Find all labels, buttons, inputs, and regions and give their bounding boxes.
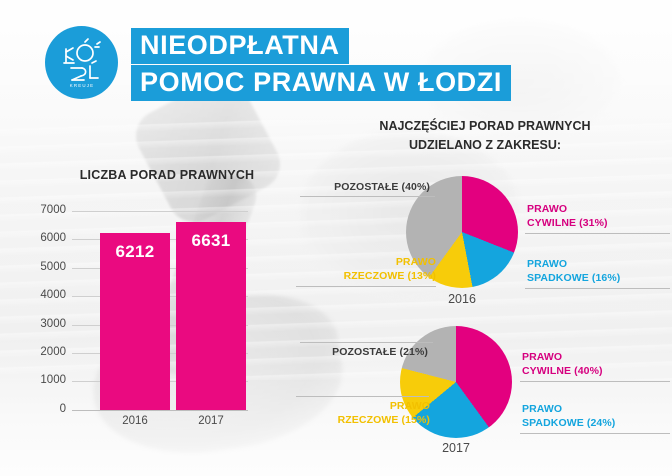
label-text: POZOSTAŁE (40%)	[300, 180, 430, 194]
label-line-1: PRAWO	[522, 402, 615, 416]
label-line-2: RZECZOWE (15%)	[294, 413, 430, 427]
label-line-1: PRAWO	[294, 399, 430, 413]
leader-line-cywilne-2016	[525, 233, 670, 234]
label-line-1: PRAWO	[527, 257, 620, 271]
label-line-1: PRAWO	[296, 255, 436, 269]
ytick-label: 4000	[20, 289, 66, 301]
title-line-1: NIEODPŁATNA	[131, 28, 349, 64]
label-line-2: SPADKOWE (16%)	[527, 271, 620, 285]
label-line-2: CYWILNE (31%)	[527, 216, 608, 230]
leader-line-rzeczowe-2017	[296, 396, 429, 397]
header-title-block: NIEODPŁATNA POMOC PRAWNA W ŁODZI	[131, 28, 672, 101]
ytick-label: 1000	[20, 374, 66, 386]
label-text: POZOSTAŁE (21%)	[300, 345, 428, 359]
pie-2016-label-spadkowe: PRAWO SPADKOWE (16%)	[527, 257, 620, 285]
svg-text:KREUJE: KREUJE	[69, 83, 94, 88]
bar-2016[interactable]: 6212	[100, 233, 170, 409]
ytick-label: 7000	[20, 204, 66, 216]
gridline-0: 0	[20, 410, 248, 411]
label-line-2: RZECZOWE (13%)	[296, 269, 436, 283]
pie-2017-year: 2017	[416, 441, 496, 455]
label-line-1: PRAWO	[527, 202, 608, 216]
leader-line-pozostale-2017	[300, 342, 433, 343]
bar-chart-title: LICZBA PORAD PRAWNYCH	[62, 168, 272, 182]
pie-2016-label-pozostale: POZOSTAŁE (40%)	[300, 180, 430, 194]
leader-line-rzeczowe-2016	[296, 286, 436, 287]
pie-2016-year: 2016	[422, 292, 502, 306]
leader-line-pozostale-2016	[300, 196, 435, 197]
gridline	[72, 211, 248, 212]
ytick-label: 0	[20, 403, 66, 415]
bar-chart: 7000 6000 5000 4000 3000 2000 1000 0 621…	[20, 200, 280, 425]
pie-2017-label-rzeczowe: PRAWO RZECZOWE (15%)	[294, 399, 430, 427]
infographic-page: KREUJE NIEODPŁATNA POMOC PRAWNA W ŁODZI …	[0, 0, 672, 476]
xtick-2016: 2016	[100, 415, 170, 427]
pie-heading-line-2: UDZIELANO Z ZAKRESU:	[335, 136, 635, 155]
bar-2017[interactable]: 6631	[176, 222, 246, 410]
axis-baseline	[72, 410, 248, 411]
xtick-2017: 2017	[176, 415, 246, 427]
gridline-7000: 7000	[20, 211, 248, 212]
ytick-label: 3000	[20, 318, 66, 330]
label-line-2: SPADKOWE (24%)	[522, 416, 615, 430]
bar-value-2016: 6212	[100, 242, 170, 262]
label-line-2: CYWILNE (40%)	[522, 364, 603, 378]
ytick-label: 6000	[20, 232, 66, 244]
pie-2017-label-cywilne: PRAWO CYWILNE (40%)	[522, 350, 603, 378]
ytick-label: 2000	[20, 346, 66, 358]
leader-line-spadkowe-2017	[520, 433, 670, 434]
bar-value-2017: 6631	[176, 231, 246, 251]
title-line-2: POMOC PRAWNA W ŁODZI	[131, 65, 511, 101]
leader-line-spadkowe-2016	[525, 288, 670, 289]
lodz-city-logo: KREUJE	[45, 26, 118, 99]
ytick-label: 5000	[20, 261, 66, 273]
pie-section-heading: NAJCZĘŚCIEJ PORAD PRAWNYCH UDZIELANO Z Z…	[335, 117, 635, 155]
pie-heading-line-1: NAJCZĘŚCIEJ PORAD PRAWNYCH	[335, 117, 635, 136]
pie-2016-label-rzeczowe: PRAWO RZECZOWE (13%)	[296, 255, 436, 283]
pie-2016-label-cywilne: PRAWO CYWILNE (31%)	[527, 202, 608, 230]
leader-line-cywilne-2017	[520, 381, 670, 382]
label-line-1: PRAWO	[522, 350, 603, 364]
pie-2017-label-spadkowe: PRAWO SPADKOWE (24%)	[522, 402, 615, 430]
pie-2017-label-pozostale: POZOSTAŁE (21%)	[300, 345, 428, 359]
